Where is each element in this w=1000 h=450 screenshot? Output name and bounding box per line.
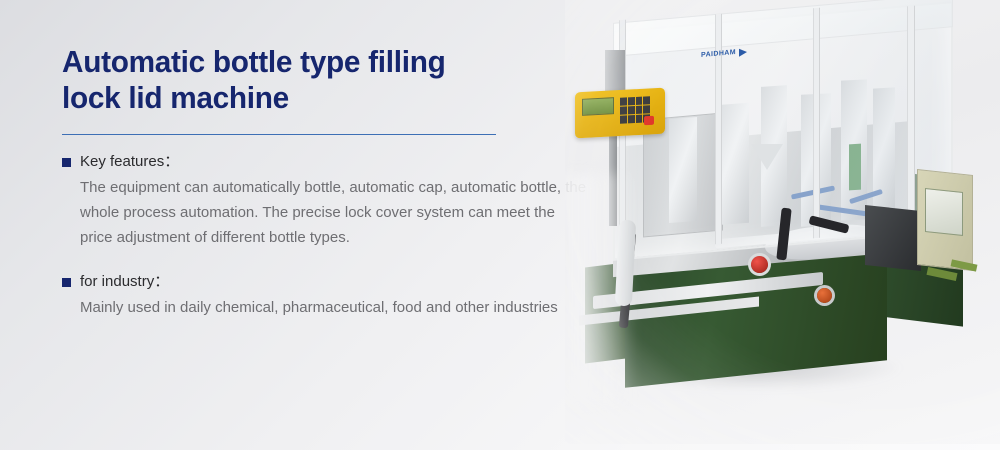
feature-list: Key features： The equipment can automati… — [62, 152, 607, 320]
text-content: Automatic bottle type filling lock lid m… — [62, 44, 607, 320]
keypad-key — [620, 106, 627, 114]
emergency-stop-button — [817, 288, 832, 303]
feature-label: for industry： — [80, 272, 169, 292]
auxiliary-dark-unit — [865, 205, 921, 271]
keypad-key — [643, 96, 650, 104]
auxiliary-window — [925, 188, 963, 236]
keypad-key — [620, 97, 627, 105]
enclosure-post — [907, 6, 915, 239]
title-divider — [62, 134, 496, 135]
keypad-key — [636, 106, 643, 114]
photo-fade-edge — [565, 174, 635, 404]
keypad-key — [643, 105, 650, 113]
keypad-key — [620, 115, 627, 123]
emergency-stop-button — [751, 256, 768, 273]
machine-logo-text: PAIDHAM — [701, 49, 736, 59]
product-banner: Automatic bottle type filling lock lid m… — [0, 0, 1000, 450]
keypad-key — [628, 115, 635, 123]
terminal-red-button — [644, 116, 654, 126]
feature-block-for-industry: for industry： Mainly used in daily chemi… — [62, 272, 607, 320]
logo-arrow-icon — [739, 47, 747, 56]
feature-block-key-features: Key features： The equipment can automati… — [62, 152, 607, 250]
feature-heading: Key features： — [62, 152, 607, 172]
keypad-key — [628, 97, 635, 105]
control-terminal-display — [582, 97, 614, 116]
keypad-key — [636, 97, 643, 105]
keypad-key — [636, 115, 643, 123]
square-bullet-icon — [62, 158, 71, 167]
feature-heading: for industry： — [62, 272, 607, 292]
feature-label: Key features： — [80, 152, 179, 172]
enclosure-post — [813, 8, 820, 239]
page-title: Automatic bottle type filling lock lid m… — [62, 44, 585, 116]
keypad-key — [628, 106, 635, 114]
feature-description: Mainly used in daily chemical, pharmaceu… — [80, 295, 590, 320]
product-photo: PAIDHAM — [565, 0, 1000, 444]
square-bullet-icon — [62, 278, 71, 287]
feature-description: The equipment can automatically bottle, … — [80, 175, 590, 250]
